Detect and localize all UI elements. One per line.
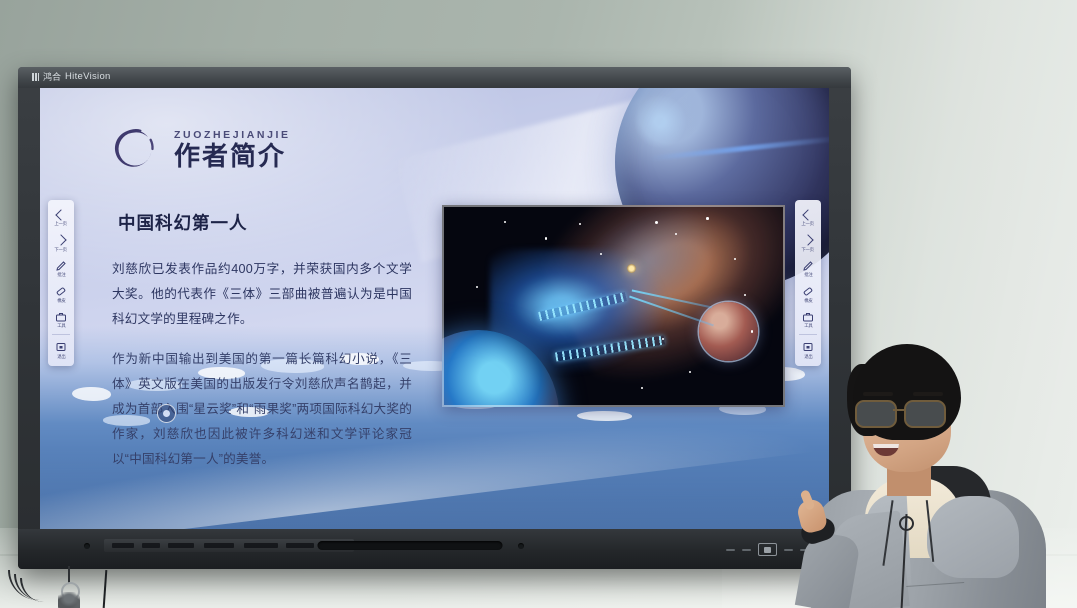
presenter-pocket [906,582,965,608]
chevron-left-icon [55,208,68,221]
eraser-icon [802,285,815,298]
toolbar-left-exit[interactable]: 退出 [48,337,74,363]
slide-header: ZUOZHEJIANJIE 作者简介 [112,126,291,172]
presenter-zipper-pull [899,516,914,531]
toolbox-icon [55,310,68,323]
toolbar-right-annotate[interactable]: 批注 [795,255,821,281]
toolbar-right-next-label: 下一页 [802,248,815,252]
toolbar-left-eraser[interactable]: 橡皮 [48,281,74,307]
toolbar-left-exit-label: 退出 [57,355,65,359]
slide-header-title: 作者简介 [174,143,291,169]
classroom-scene: 鸿合 HiteVision [0,0,1077,608]
glasses-lens-right [904,400,946,428]
slide-body: 中国科幻第一人 刘慈欣已发表作品约400万字，并荣获国内多个文学大奖。他的代表作… [112,210,412,487]
photo-frame [442,205,785,407]
slide-header-pinyin: ZUOZHEJIANJIE [174,129,291,141]
brand-logo: 鸿合 HiteVision [32,70,111,83]
toolbar-right-tools[interactable]: 工具 [795,306,821,332]
toolbar-right-prev-label: 上一页 [802,222,815,226]
toolbar-left-divider [52,334,71,335]
toolbar-left-next-label: 下一页 [55,248,68,252]
chevron-left-icon [802,208,815,221]
toolbar-right-prev-page[interactable]: 上一页 [795,204,821,230]
toolbar-left-prev-label: 上一页 [55,222,68,226]
toolbar-right-tools-label: 工具 [804,324,812,328]
toolbox-icon [802,310,815,323]
presenter-person [795,338,1077,608]
toolbar-left-tools-label: 工具 [57,324,65,328]
screen-toolbar-left[interactable]: 上一页 下一页 批注 橡皮 [48,200,74,366]
exit-icon [55,341,68,354]
interactive-whiteboard[interactable]: 鸿合 HiteVision [18,67,851,569]
brand-english-name: HiteVision [65,71,111,82]
pen-icon [802,259,815,272]
toolbar-right-eraser-label: 橡皮 [804,299,812,303]
brand-chinese-name: 鸿合 [43,70,61,83]
screen-area[interactable]: ZUOZHEJIANJIE 作者简介 中国科幻第一人 刘慈欣已发表作品约400万… [40,88,829,529]
toolbar-left-prev-page[interactable]: 上一页 [48,204,74,230]
toolbar-right-eraser[interactable]: 橡皮 [795,281,821,307]
toolbar-right-next-page[interactable]: 下一页 [795,230,821,256]
glasses-bridge [893,409,904,411]
bezel-top: 鸿合 HiteVision [18,67,851,88]
chevron-right-icon [802,234,815,247]
glasses-lens-left [855,400,897,428]
toolbar-left-annotate[interactable]: 批注 [48,255,74,281]
presenter-glasses [855,400,959,424]
space-scene-photo [442,205,785,407]
power-button-icon[interactable] [758,543,777,556]
presenter-hood-right [927,496,1019,578]
toolbar-left-tools[interactable]: 工具 [48,306,74,332]
pen-icon [55,259,68,272]
slide-paragraph-1: 刘慈欣已发表作品约400万字，并荣获国内多个文学大奖。他的代表作《三体》三部曲被… [112,257,412,333]
chevron-right-icon [55,234,68,247]
enso-circle-logo [112,126,158,172]
slide-section-title: 中国科幻第一人 [118,210,412,235]
toolbar-left-eraser-label: 橡皮 [57,299,65,303]
toolbar-left-next-page[interactable]: 下一页 [48,230,74,256]
bezel-bottom [18,529,851,569]
eraser-icon [55,285,68,298]
slide-decoration-badge [157,404,176,423]
toolbar-right-annotate-label: 批注 [804,273,812,277]
brand-mark-icon [32,73,39,81]
speaker-grille [317,541,502,550]
toolbar-right-divider [799,334,818,335]
toolbar-left-annotate-label: 批注 [57,273,65,277]
keys-bunch [58,592,80,608]
